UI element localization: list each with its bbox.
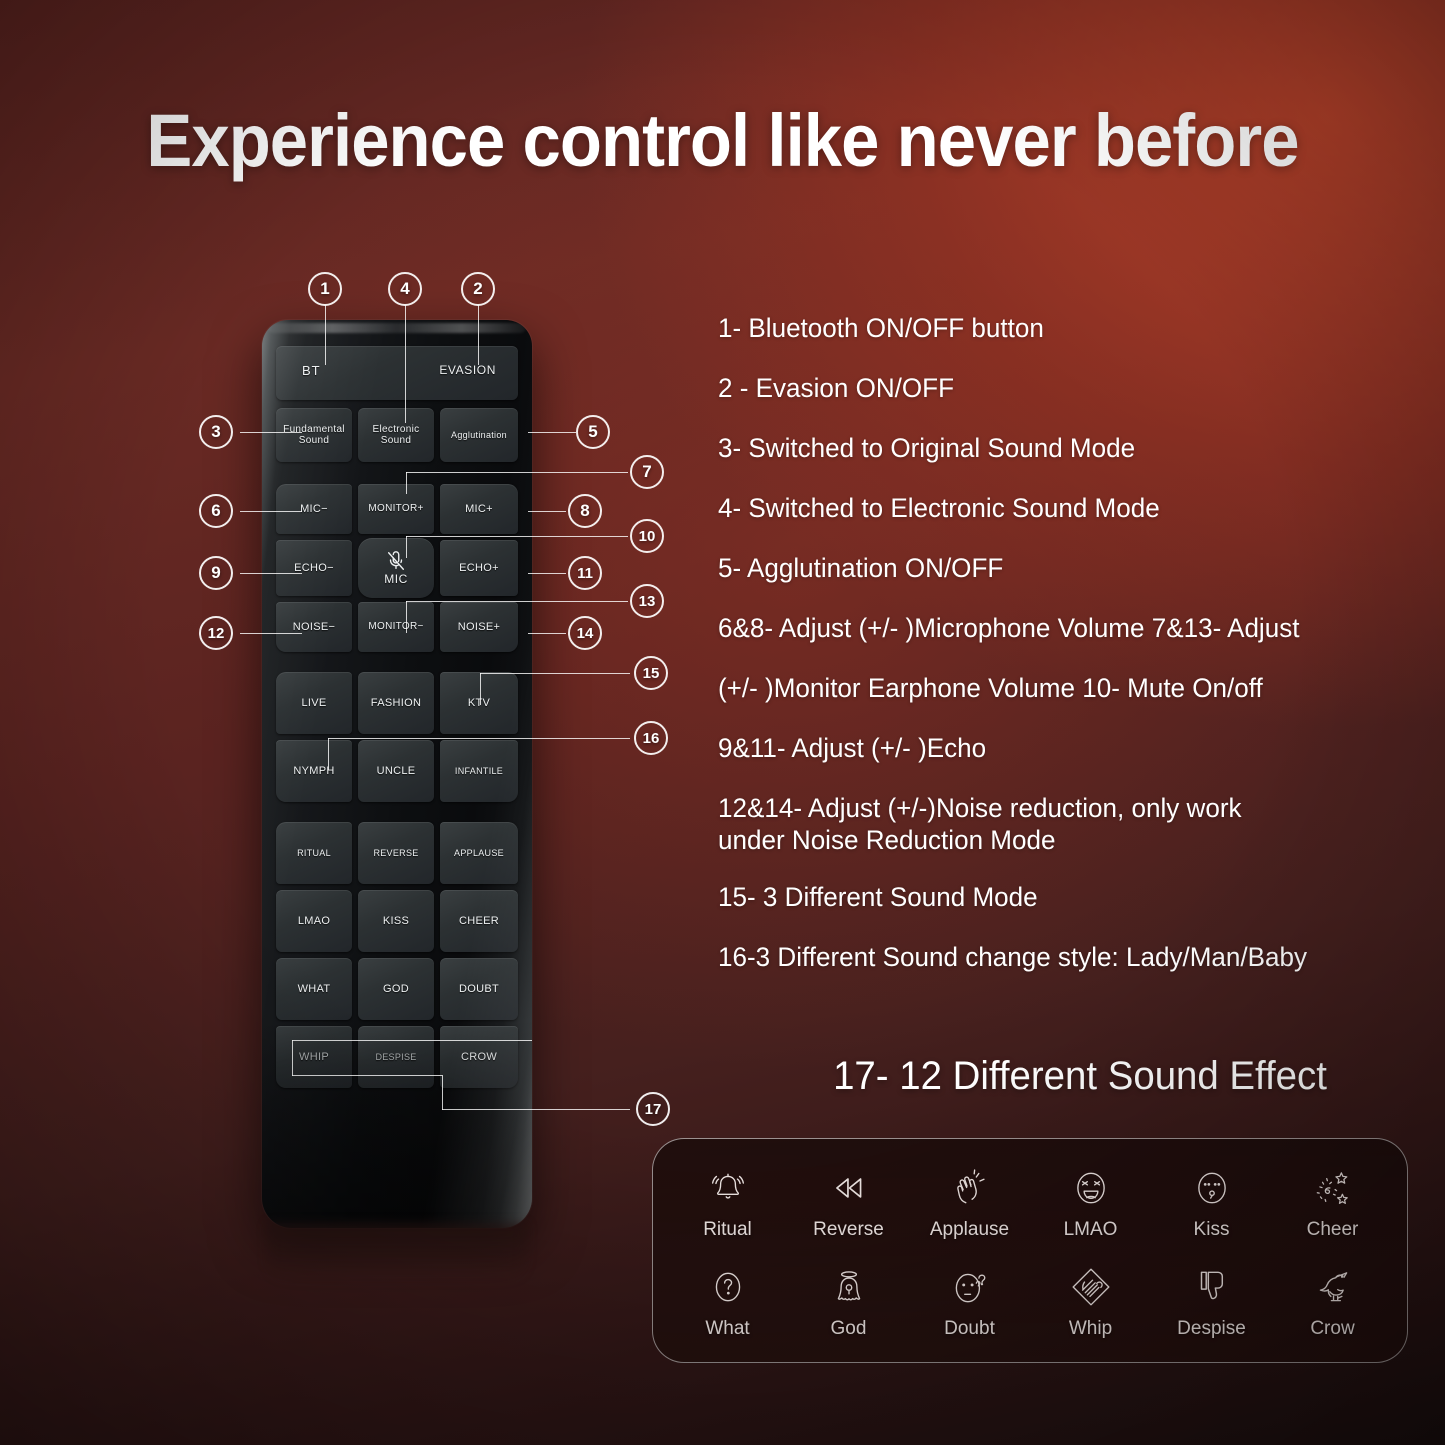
mic-plus-button[interactable]: MIC+ bbox=[440, 484, 518, 534]
list-item: 16-3 Different Sound change style: Lady/… bbox=[718, 941, 1394, 974]
sound-effect-label: Reverse bbox=[813, 1219, 884, 1241]
sound-effect-label: LMAO bbox=[1064, 1219, 1118, 1241]
nymph-button[interactable]: NYMPH bbox=[276, 740, 352, 802]
noise-minus-button[interactable]: NOISE− bbox=[276, 602, 352, 652]
echo-minus-button[interactable]: ECHO− bbox=[276, 540, 352, 596]
leader-line-16 bbox=[328, 738, 630, 739]
sound-effect-row-2: What God bbox=[667, 1251, 1393, 1351]
callout-16: 16 bbox=[634, 721, 668, 755]
leader-line-15 bbox=[480, 673, 630, 674]
callout-8: 8 bbox=[568, 494, 602, 528]
cheer-button[interactable]: CHEER bbox=[440, 890, 518, 952]
sound-effect-label: God bbox=[831, 1318, 867, 1340]
leader-line-10v bbox=[406, 536, 407, 558]
leader-line-17a bbox=[292, 1075, 442, 1076]
callout-4: 4 bbox=[388, 272, 422, 306]
sound-effect-doubt[interactable]: Doubt bbox=[909, 1260, 1030, 1340]
list-item: 1- Bluetooth ON/OFF button bbox=[718, 312, 1394, 345]
kiss-button[interactable]: KISS bbox=[358, 890, 434, 952]
leader-line-17b bbox=[442, 1109, 630, 1110]
leader-line-4 bbox=[405, 305, 406, 423]
doubt-button[interactable]: DOUBT bbox=[440, 958, 518, 1020]
leader-line-12 bbox=[240, 633, 302, 634]
crow-bird-icon bbox=[1311, 1260, 1355, 1314]
sound-effect-ritual[interactable]: Ritual bbox=[667, 1161, 788, 1241]
sound-effect-kiss[interactable]: Kiss bbox=[1151, 1161, 1272, 1241]
sound-effect-label: Despise bbox=[1177, 1318, 1246, 1340]
confused-face-icon bbox=[948, 1260, 992, 1314]
leader-line-13v bbox=[406, 601, 407, 633]
leader-line-9 bbox=[240, 573, 302, 574]
leader-line-6 bbox=[240, 511, 302, 512]
list-item: 2 - Evasion ON/OFF bbox=[718, 372, 1394, 405]
callout-2: 2 bbox=[461, 272, 495, 306]
fundamental-sound-button[interactable]: Fundamental Sound bbox=[276, 408, 352, 462]
list-item: 12&14- Adjust (+/-)Noise reduction, only… bbox=[718, 792, 1394, 858]
remote-top-rim bbox=[268, 323, 526, 333]
sound-effect-cheer[interactable]: Cheer bbox=[1272, 1161, 1393, 1241]
sound-effect-label: Applause bbox=[930, 1219, 1009, 1241]
leader-line-17v bbox=[292, 1040, 293, 1076]
what-button[interactable]: WHAT bbox=[276, 958, 352, 1020]
callout-10: 10 bbox=[630, 519, 664, 553]
feature-list: 1- Bluetooth ON/OFF button 2 - Evasion O… bbox=[718, 312, 1418, 1001]
kissing-face-icon bbox=[1191, 1161, 1233, 1215]
mic-minus-button[interactable]: MIC− bbox=[276, 484, 352, 534]
sound-effect-label: Cheer bbox=[1307, 1219, 1359, 1241]
reverse-button[interactable]: REVERSE bbox=[358, 822, 434, 884]
mic-mute-button[interactable]: MIC bbox=[358, 538, 434, 598]
mic-mute-label: MIC bbox=[358, 573, 434, 586]
sound-effect-label: Doubt bbox=[944, 1318, 995, 1340]
question-mark-icon bbox=[707, 1260, 749, 1314]
sound-effect-label: What bbox=[705, 1318, 749, 1340]
crow-button[interactable]: CROW bbox=[440, 1026, 518, 1088]
whip-button[interactable]: WHIP bbox=[276, 1026, 352, 1088]
list-item: 9&11- Adjust (+/- )Echo bbox=[718, 732, 1394, 765]
callout-12: 12 bbox=[199, 616, 233, 650]
remote-control-device: BT EVASION Fundamental Sound Electronic … bbox=[262, 320, 532, 1228]
live-button[interactable]: LIVE bbox=[276, 672, 352, 734]
agglutination-button[interactable]: Agglutination bbox=[440, 408, 518, 462]
thumbs-down-icon bbox=[1191, 1260, 1233, 1314]
list-item: 5- Agglutination ON/OFF bbox=[718, 552, 1394, 585]
callout-6: 6 bbox=[199, 494, 233, 528]
leader-line-11 bbox=[528, 573, 566, 574]
list-item: 3- Switched to Original Sound Mode bbox=[718, 432, 1394, 465]
evasion-button[interactable]: EVASION bbox=[439, 364, 496, 377]
sound-effect-despise[interactable]: Despise bbox=[1151, 1260, 1272, 1340]
leader-line-2 bbox=[478, 305, 479, 365]
bell-icon bbox=[707, 1161, 749, 1215]
sound-effect-row-1: Ritual Reverse bbox=[667, 1151, 1393, 1251]
leader-line-17v2 bbox=[442, 1075, 443, 1110]
list-item: (+/- )Monitor Earphone Volume 10- Mute O… bbox=[718, 672, 1394, 705]
sound-effect-applause[interactable]: Applause bbox=[909, 1161, 1030, 1241]
button-panel-top: BT EVASION bbox=[276, 346, 518, 400]
despise-button[interactable]: DESPISE bbox=[358, 1026, 434, 1088]
leader-line-15v bbox=[480, 673, 481, 705]
electronic-sound-button[interactable]: Electronic Sound bbox=[358, 408, 434, 462]
sound-effect-label: Ritual bbox=[703, 1219, 752, 1241]
callout-9: 9 bbox=[199, 556, 233, 590]
sound-effect-label: Kiss bbox=[1194, 1219, 1230, 1241]
sound-effect-god[interactable]: God bbox=[788, 1260, 909, 1340]
leader-line-14 bbox=[528, 633, 566, 634]
bt-button[interactable]: BT bbox=[302, 364, 321, 379]
leader-line-10 bbox=[406, 536, 628, 537]
callout-17: 17 bbox=[636, 1092, 670, 1126]
whip-hand-icon bbox=[1069, 1260, 1113, 1314]
leader-line-3 bbox=[240, 432, 302, 433]
echo-plus-button[interactable]: ECHO+ bbox=[440, 540, 518, 596]
rewind-icon bbox=[828, 1161, 870, 1215]
leader-line-5 bbox=[528, 432, 576, 433]
callout-11: 11 bbox=[568, 556, 602, 590]
sound-effect-label: Whip bbox=[1069, 1318, 1112, 1340]
sound-effect-panel: Ritual Reverse bbox=[652, 1138, 1408, 1363]
list-item: 15- 3 Different Sound Mode bbox=[718, 881, 1394, 914]
laughing-face-icon bbox=[1070, 1161, 1112, 1215]
ktv-button[interactable]: KTV bbox=[440, 672, 518, 734]
leader-line-8 bbox=[528, 511, 566, 512]
sound-effect-reverse[interactable]: Reverse bbox=[788, 1161, 909, 1241]
sound-effect-label: Crow bbox=[1310, 1318, 1354, 1340]
leader-line-13 bbox=[406, 601, 628, 602]
callout-3: 3 bbox=[199, 415, 233, 449]
leader-line-7v bbox=[406, 472, 407, 494]
remote-reflection bbox=[268, 1224, 526, 1280]
sound-effect-lmao[interactable]: LMAO bbox=[1030, 1161, 1151, 1241]
applause-button[interactable]: APPLAUSE bbox=[440, 822, 518, 884]
callout-1: 1 bbox=[308, 272, 342, 306]
leader-line-1 bbox=[325, 305, 326, 365]
sound-effect-what[interactable]: What bbox=[667, 1260, 788, 1340]
monitor-plus-button[interactable]: MONITOR+ bbox=[358, 484, 434, 534]
lmao-button[interactable]: LMAO bbox=[276, 890, 352, 952]
angel-icon bbox=[828, 1260, 870, 1314]
list-item: 6&8- Adjust (+/- )Microphone Volume 7&13… bbox=[718, 612, 1394, 645]
uncle-button[interactable]: UNCLE bbox=[358, 740, 434, 802]
callout-15: 15 bbox=[634, 656, 668, 690]
callout-5: 5 bbox=[576, 415, 610, 449]
confetti-stars-icon bbox=[1310, 1161, 1356, 1215]
clapping-hands-icon bbox=[949, 1161, 991, 1215]
infographic-canvas: Experience control like never before BT … bbox=[0, 0, 1445, 1445]
sound-effect-heading: 17- 12 Different Sound Effect bbox=[754, 1054, 1407, 1099]
ritual-button[interactable]: RITUAL bbox=[276, 822, 352, 884]
callout-13: 13 bbox=[630, 584, 664, 618]
sound-effect-crow[interactable]: Crow bbox=[1272, 1260, 1393, 1340]
infantile-button[interactable]: INFANTILE bbox=[440, 740, 518, 802]
noise-plus-button[interactable]: NOISE+ bbox=[440, 602, 518, 652]
callout-14: 14 bbox=[568, 616, 602, 650]
god-button[interactable]: GOD bbox=[358, 958, 434, 1020]
callout-7: 7 bbox=[630, 455, 664, 489]
list-item: 4- Switched to Electronic Sound Mode bbox=[718, 492, 1394, 525]
leader-line-16v bbox=[328, 738, 329, 770]
sound-effect-whip[interactable]: Whip bbox=[1030, 1260, 1151, 1340]
page-title: Experience control like never before bbox=[51, 104, 1395, 178]
monitor-minus-button[interactable]: MONITOR− bbox=[358, 602, 434, 652]
leader-line-7 bbox=[406, 472, 628, 473]
fashion-button[interactable]: FASHION bbox=[358, 672, 434, 734]
leader-line-17c bbox=[292, 1040, 532, 1041]
